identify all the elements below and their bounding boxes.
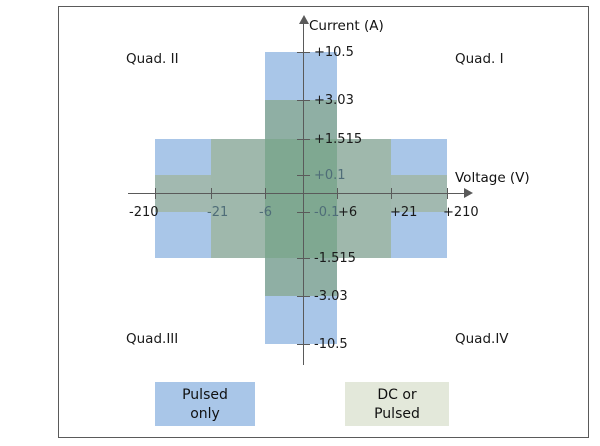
y-label-p3_03: +3.03 <box>314 93 354 108</box>
y-label-p10_5: +10.5 <box>314 45 354 60</box>
operating-area-chart: Current (A) Voltage (V) +10.5 +3.03 +1.5… <box>0 0 600 446</box>
y-tick-n10_5 <box>297 344 310 345</box>
quadrant-label-3: Quad.III <box>126 331 178 347</box>
y-label-n0_1: -0.1 <box>314 205 339 220</box>
x-label-n6: -6 <box>259 205 272 220</box>
y-tick-p3_03 <box>297 100 310 101</box>
y-axis-line <box>303 22 304 365</box>
legend-pulsed-line1: Pulsed <box>155 386 255 405</box>
y-tick-n0_1 <box>297 212 310 213</box>
quadrant-label-2: Quad. II <box>126 51 179 67</box>
x-label-p6: +6 <box>338 205 357 220</box>
y-label-p1_515: +1.515 <box>314 132 362 147</box>
x-tick-p6 <box>337 188 338 199</box>
y-label-n10_5: -10.5 <box>314 337 348 352</box>
y-label-n3_03: -3.03 <box>314 289 348 304</box>
y-tick-p1_515 <box>297 139 310 140</box>
legend-dc-line1: DC or <box>345 386 449 405</box>
x-axis-arrow-icon <box>464 188 473 198</box>
quadrant-label-4: Quad.IV <box>455 331 509 347</box>
legend-item-pulsed-only: Pulsed only <box>155 382 255 426</box>
legend-pulsed-line2: only <box>155 405 255 424</box>
region-core-overlap <box>265 139 337 258</box>
x-tick-p210 <box>447 188 448 199</box>
legend-dc-line2: Pulsed <box>345 405 449 424</box>
y-tick-n1_515 <box>297 258 310 259</box>
quadrant-label-1: Quad. I <box>455 51 504 67</box>
legend-item-dc-or-pulsed: DC or Pulsed <box>345 382 449 426</box>
y-axis-arrow-icon <box>299 15 309 24</box>
x-tick-n21 <box>211 188 212 199</box>
x-tick-n6 <box>265 188 266 199</box>
y-tick-p10_5 <box>297 52 310 53</box>
x-tick-n210 <box>155 188 156 199</box>
x-label-n21: -21 <box>207 205 228 220</box>
y-label-n1_515: -1.515 <box>314 251 356 266</box>
x-tick-p21 <box>391 188 392 199</box>
x-axis-title: Voltage (V) <box>455 170 530 186</box>
y-axis-title: Current (A) <box>309 18 384 34</box>
x-axis-line <box>128 193 468 194</box>
x-label-n210: -210 <box>129 205 159 220</box>
x-label-p21: +21 <box>390 205 417 220</box>
x-label-p210: +210 <box>443 205 479 220</box>
y-label-p0_1: +0.1 <box>314 168 346 183</box>
y-tick-n3_03 <box>297 296 310 297</box>
y-tick-p0_1 <box>297 175 310 176</box>
